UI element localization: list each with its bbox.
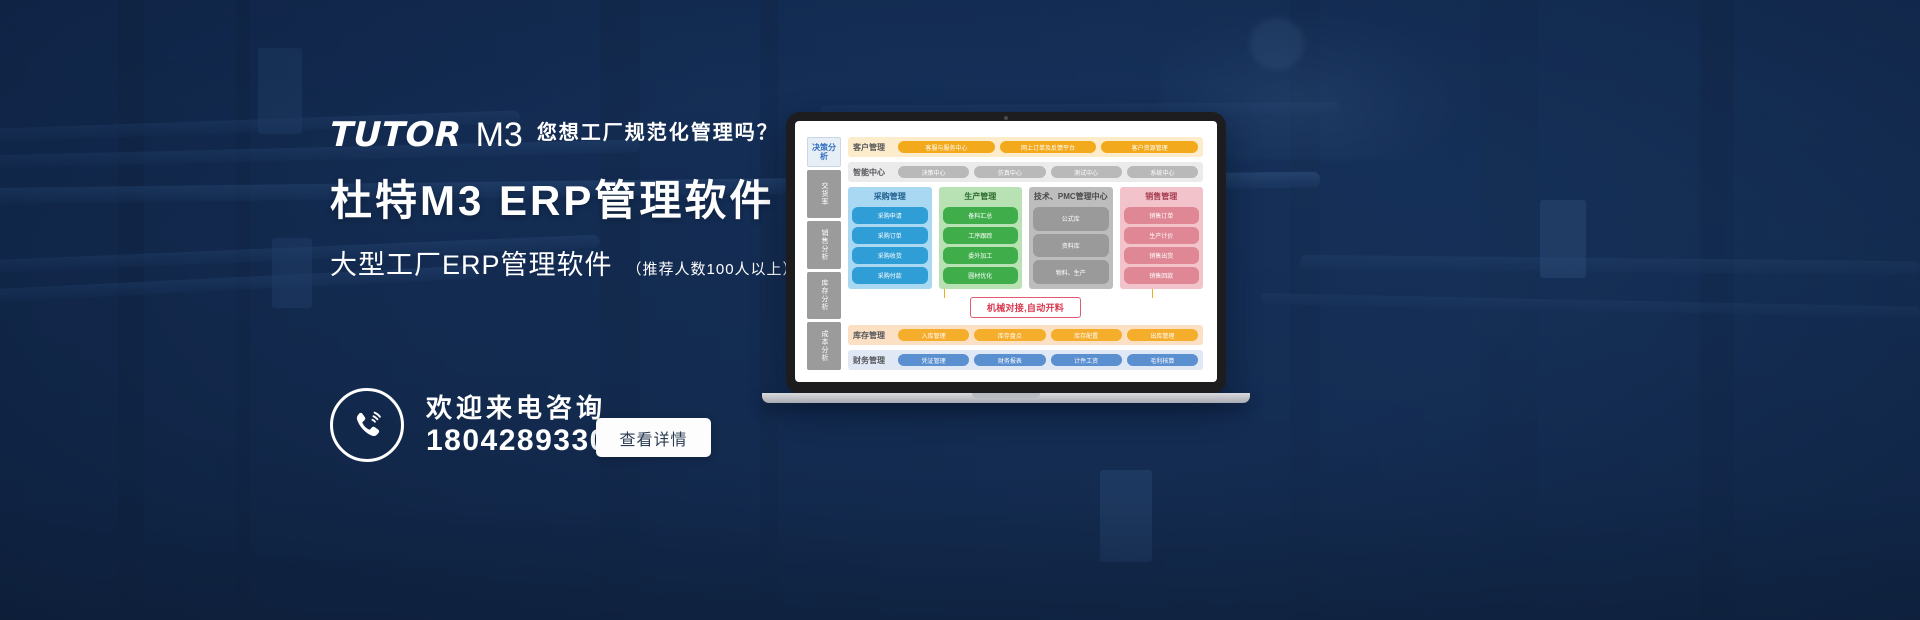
hero-subtitle-main: 大型工厂ERP管理软件 <box>330 248 613 282</box>
phone-ring-icon <box>330 388 404 462</box>
erp-chip: 生产计价 <box>1124 227 1200 244</box>
erp-highlight-callout: 机械对接,自动开料 <box>970 297 1081 318</box>
erp-decision-header: 决策分析 <box>807 137 841 167</box>
erp-band-customer: 客户管理 客服与服务中心 网上订单及反馈平台 客户资源管理 <box>848 137 1203 157</box>
logo-secondary-text: M3 <box>476 118 523 152</box>
erp-column-production-title: 生产管理 <box>943 191 1019 204</box>
laptop-lid: 决策分析 交货率 销售分析 库存分析 成本分析 客户管理 客服与服务中心 网上订… <box>786 112 1226 394</box>
erp-pill: 客户资源管理 <box>1101 141 1198 153</box>
erp-decision-item-label: 交货率 <box>820 182 828 206</box>
erp-chip: 公式库 <box>1033 207 1109 231</box>
erp-band-customer-label: 客户管理 <box>853 142 893 153</box>
erp-decision-item-label: 库存分析 <box>820 279 828 311</box>
erp-column-production: 生产管理 备料汇总 工序跟踪 委外加工 圆材优化 <box>939 187 1023 289</box>
erp-decision-item-label: 成本分析 <box>820 330 828 362</box>
laptop-base-notch <box>972 393 1040 398</box>
erp-decision-column: 决策分析 交货率 销售分析 库存分析 成本分析 <box>807 137 841 370</box>
erp-highlight-row: 机械对接,自动开料 <box>848 294 1203 320</box>
erp-column-sales-title: 销售管理 <box>1124 191 1200 204</box>
erp-band-stock: 库存管理 入库管理 库存盘点 库存配置 出库管理 <box>848 325 1203 345</box>
brand-tagline: 您想工厂规范化管理吗？ <box>537 116 779 152</box>
erp-pill: 客服与服务中心 <box>898 141 995 153</box>
erp-decision-item-2: 库存分析 <box>807 272 841 320</box>
erp-column-purchase: 采购管理 采购申请 采购订单 采购收货 采购付款 <box>848 187 932 289</box>
erp-pill: 财务报表 <box>974 354 1045 366</box>
erp-column-purchase-title: 采购管理 <box>852 191 928 204</box>
erp-column-sales: 销售管理 销售订单 生产计价 销售出货 销售回款 <box>1120 187 1204 289</box>
erp-flow-arrow <box>944 289 946 298</box>
erp-chip: 物料、生产 <box>1033 260 1109 284</box>
erp-pill: 决策中心 <box>898 166 969 178</box>
view-details-button[interactable]: 查看详情 <box>596 418 711 457</box>
erp-band-smart-center-label: 智能中心 <box>853 167 893 178</box>
erp-decision-item-label: 销售分析 <box>820 229 828 261</box>
erp-chip: 工序跟踪 <box>943 227 1019 244</box>
erp-chip: 采购申请 <box>852 207 928 224</box>
erp-pill: 库存配置 <box>1051 329 1122 341</box>
hero-subtitle-note: （推荐人数100人以上） <box>627 253 799 287</box>
laptop-screen: 决策分析 交货率 销售分析 库存分析 成本分析 客户管理 客服与服务中心 网上订… <box>795 121 1217 382</box>
erp-chip: 销售出货 <box>1124 247 1200 264</box>
erp-band-finance: 财务管理 凭证管理 财务报表 计件工资 毛利核算 <box>848 350 1203 370</box>
erp-pill: 测试中心 <box>1051 166 1122 178</box>
erp-architecture-diagram: 决策分析 交货率 销售分析 库存分析 成本分析 客户管理 客服与服务中心 网上订… <box>795 121 1217 382</box>
erp-chip: 资料库 <box>1033 234 1109 258</box>
erp-pill: 系统中心 <box>1127 166 1198 178</box>
erp-band-smart-center: 智能中心 决策中心 仿真中心 测试中心 系统中心 <box>848 162 1203 182</box>
erp-chip: 采购付款 <box>852 267 928 284</box>
erp-band-stock-label: 库存管理 <box>853 330 893 341</box>
erp-decision-item-3: 成本分析 <box>807 322 841 370</box>
logo-primary-text: TUTOR <box>329 118 462 152</box>
erp-chip: 销售回款 <box>1124 267 1200 284</box>
erp-column-tech-pmc: 技术、PMC管理中心 公式库 资料库 物料、生产 <box>1029 187 1113 289</box>
erp-chip: 采购订单 <box>852 227 928 244</box>
contact-block: 欢迎来电咨询 18042893305 <box>330 388 626 462</box>
erp-pill: 库存盘点 <box>974 329 1045 341</box>
erp-pill: 计件工资 <box>1051 354 1122 366</box>
erp-chip: 销售订单 <box>1124 207 1200 224</box>
erp-chip: 采购收货 <box>852 247 928 264</box>
laptop-camera-icon <box>1004 116 1008 120</box>
erp-chip: 圆材优化 <box>943 267 1019 284</box>
erp-pill: 网上订单及反馈平台 <box>1000 141 1097 153</box>
erp-chip: 备料汇总 <box>943 207 1019 224</box>
erp-column-tech-pmc-title: 技术、PMC管理中心 <box>1033 191 1109 204</box>
erp-pill: 毛利核算 <box>1127 354 1198 366</box>
erp-decision-item-1: 销售分析 <box>807 221 841 269</box>
erp-decision-item-0: 交货率 <box>807 170 841 218</box>
erp-pill: 凭证管理 <box>898 354 969 366</box>
erp-flow-arrow <box>1152 289 1154 298</box>
erp-main-column: 客户管理 客服与服务中心 网上订单及反馈平台 客户资源管理 智能中心 决策中心 … <box>848 137 1203 370</box>
laptop-mockup: 决策分析 交货率 销售分析 库存分析 成本分析 客户管理 客服与服务中心 网上订… <box>786 112 1226 394</box>
erp-pill: 仿真中心 <box>974 166 1045 178</box>
erp-band-finance-label: 财务管理 <box>853 355 893 366</box>
erp-module-columns: 采购管理 采购申请 采购订单 采购收货 采购付款 生产管理 备料汇总 工序跟踪 … <box>848 187 1203 289</box>
hero-banner: TUTOR M3 您想工厂规范化管理吗？ 杜特M3 ERP管理软件 大型工厂ER… <box>0 0 1920 620</box>
erp-pill: 出库管理 <box>1127 329 1198 341</box>
erp-chip: 委外加工 <box>943 247 1019 264</box>
erp-pill: 入库管理 <box>898 329 969 341</box>
